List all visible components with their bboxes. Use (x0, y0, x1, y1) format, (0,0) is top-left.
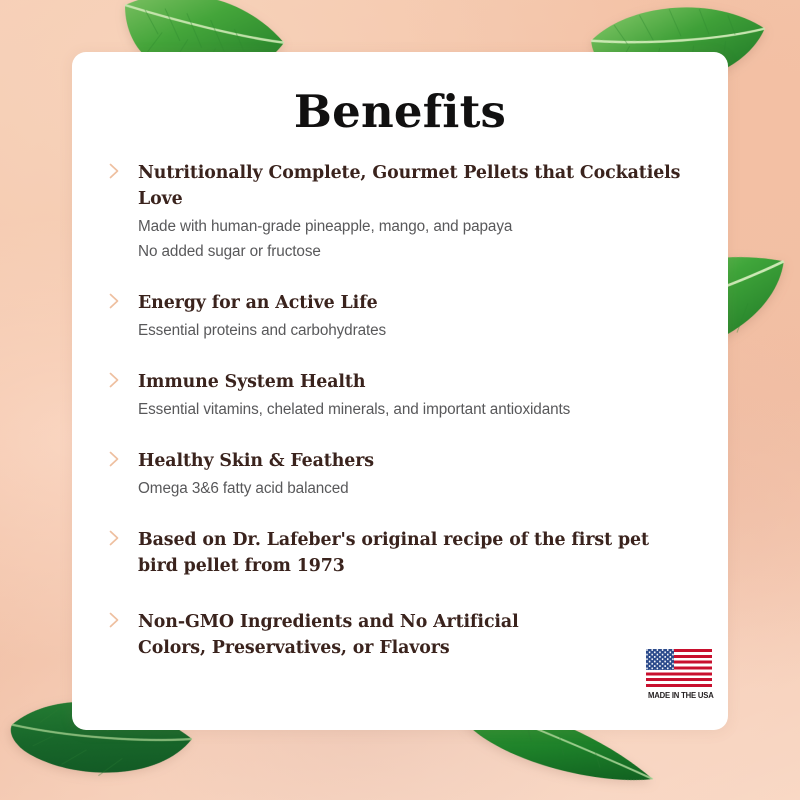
list-item: Non-GMO Ingredients and No Artificial Co… (72, 609, 728, 661)
benefit-heading: Nutritionally Complete, Gourmet Pellets … (138, 160, 714, 212)
page-title: Benefits (72, 52, 728, 138)
chevron-right-icon (108, 451, 121, 467)
benefit-subtext: Essential proteins and carbohydrates (138, 318, 714, 343)
made-in-usa-badge: MADE IN THE USA (646, 649, 712, 700)
benefit-heading: Energy for an Active Life (138, 290, 714, 316)
benefit-subtext: No added sugar or fructose (138, 239, 714, 264)
benefits-graphic: Benefits Nutritionally Complete, Gourmet… (0, 0, 800, 800)
benefit-heading: Based on Dr. Lafeber's original recipe o… (138, 527, 668, 579)
made-in-usa-caption: MADE IN THE USA (648, 691, 710, 700)
benefits-card: Benefits Nutritionally Complete, Gourmet… (72, 52, 728, 730)
list-item: Energy for an Active Life Essential prot… (72, 290, 728, 343)
list-item: Based on Dr. Lafeber's original recipe o… (72, 527, 728, 579)
benefit-heading: Healthy Skin & Feathers (138, 448, 714, 474)
benefit-subtext: Omega 3&6 fatty acid balanced (138, 476, 714, 501)
list-item: Nutritionally Complete, Gourmet Pellets … (72, 160, 728, 264)
chevron-right-icon (108, 372, 121, 388)
chevron-right-icon (108, 530, 121, 546)
benefit-heading: Immune System Health (138, 369, 714, 395)
chevron-right-icon (108, 612, 121, 628)
benefit-subtext: Made with human-grade pineapple, mango, … (138, 214, 714, 239)
us-flag-icon (646, 649, 712, 687)
list-item: Healthy Skin & Feathers Omega 3&6 fatty … (72, 448, 728, 501)
benefit-heading: Non-GMO Ingredients and No Artificial Co… (138, 609, 578, 661)
chevron-right-icon (108, 293, 121, 309)
benefit-subtext: Essential vitamins, chelated minerals, a… (138, 397, 714, 422)
list-item: Immune System Health Essential vitamins,… (72, 369, 728, 422)
benefits-list: Nutritionally Complete, Gourmet Pellets … (72, 160, 728, 663)
chevron-right-icon (108, 163, 121, 179)
flag-stars (646, 649, 674, 670)
